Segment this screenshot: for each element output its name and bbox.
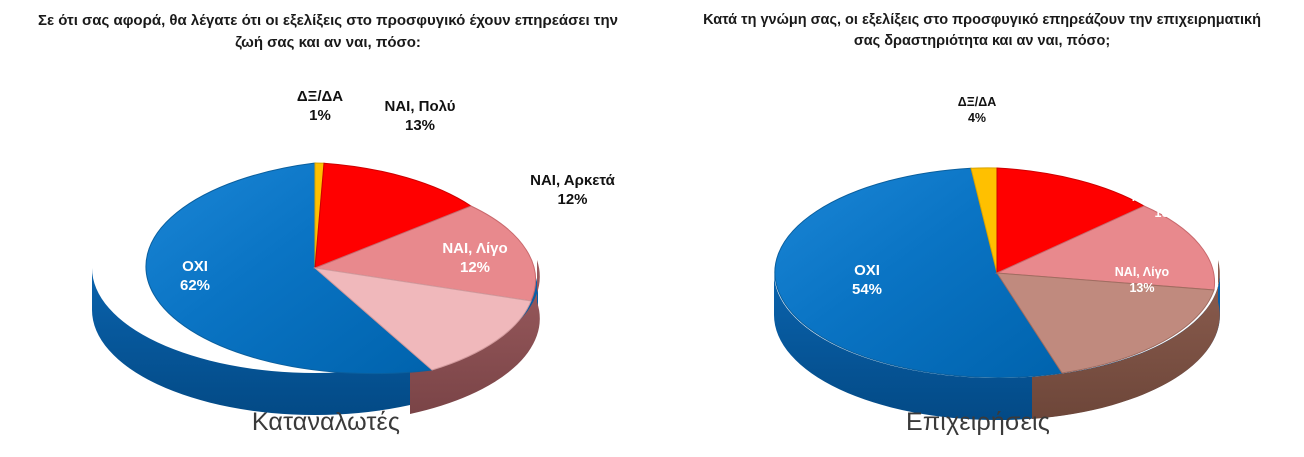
right-label-nai-poly: ΝΑΙ, Πολύ 13% [1032, 142, 1142, 173]
right-label-dxda-name: ΔΞ/ΔΑ [958, 95, 997, 109]
left-label-nai-poly-value: 13% [405, 117, 435, 134]
chart-board: Σε ότι σας αφορά, θα λέγατε ότι οι εξελί… [0, 0, 1304, 457]
left-label-nai-arketa: ΝΑΙ, Αρκετά 12% [500, 172, 645, 210]
right-label-nai-poly-name-norm: Πολύ [1087, 142, 1116, 156]
left-label-nai-ligo: ΝΑΙ, Λίγο 12% [415, 240, 535, 278]
left-label-oxi: ΟΧΙ 62% [150, 258, 240, 296]
left-label-oxi-name: ΟΧΙ [182, 258, 208, 275]
right-label-nai-arketa-value: 16% [1154, 206, 1179, 220]
right-label-nai-arketa-name: ΝΑΙ, Αρκετά [1132, 190, 1203, 204]
right-chart-title: Κατά τη γνώμη σας, οι εξελίξεις στο προσ… [692, 10, 1272, 52]
left-label-dxda-value: 1% [309, 107, 331, 124]
left-label-nai-poly-name: ΝΑΙ, Πολύ [384, 98, 455, 115]
right-caption: Επιχειρήσεις [652, 408, 1304, 437]
right-label-oxi-name: ΟΧΙ [854, 262, 880, 279]
left-label-nai-arketa-value: 12% [557, 191, 587, 208]
left-label-dxda: ΔΞ/ΔΑ 1% [265, 88, 375, 126]
right-label-nai-ligo-name: ΝΑΙ, Λίγο [1115, 265, 1169, 279]
right-label-dxda: ΔΞ/ΔΑ 4% [922, 95, 1032, 126]
right-label-nai-ligo-value: 13% [1129, 281, 1154, 295]
left-label-dxda-name: ΔΞ/ΔΑ [297, 88, 343, 105]
left-label-nai-ligo-name: ΝΑΙ, Λίγο [442, 240, 507, 257]
left-label-nai-arketa-name: ΝΑΙ, Αρκετά [530, 172, 615, 189]
right-label-oxi-value: 54% [852, 281, 882, 298]
right-label-nai-poly-name-bold: ΝΑΙ, [1058, 142, 1083, 156]
right-label-nai-ligo: ΝΑΙ, Λίγο 13% [1082, 265, 1202, 296]
left-label-nai-poly: ΝΑΙ, Πολύ 13% [360, 98, 480, 136]
right-label-nai-arketa: ΝΑΙ, Αρκετά 16% [1107, 190, 1227, 221]
left-label-nai-ligo-value: 12% [460, 259, 490, 276]
right-label-nai-poly-value: 13% [1074, 158, 1099, 172]
right-label-oxi: ΟΧΙ 54% [822, 262, 912, 300]
panel-consumers: Σε ότι σας αφορά, θα λέγατε ότι οι εξελί… [0, 0, 652, 457]
left-caption: Καταναλωτές [0, 408, 652, 437]
right-label-dxda-value: 4% [968, 111, 986, 125]
left-label-oxi-value: 62% [180, 277, 210, 294]
left-chart-title: Σε ότι σας αφορά, θα λέγατε ότι οι εξελί… [28, 10, 628, 54]
panel-businesses: Κατά τη γνώμη σας, οι εξελίξεις στο προσ… [652, 0, 1304, 457]
